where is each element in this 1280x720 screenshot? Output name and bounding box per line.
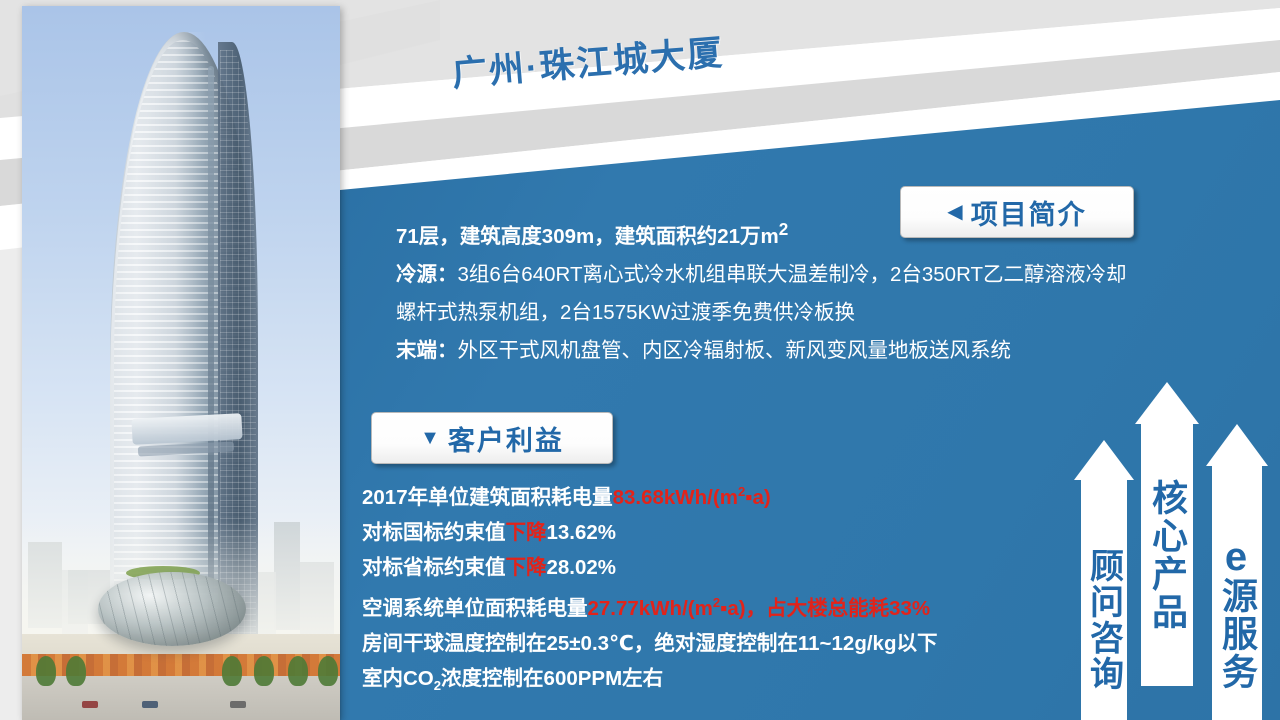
intro-line-2-label: 冷源 <box>396 263 437 286</box>
intro-line-4-text: 外区干式风机盘管、内区冷辐射板、新风变风量地板送风系统 <box>458 339 1012 362</box>
benefit-row-3-keyword: 下降 <box>506 556 547 579</box>
intro-line-1-text: 71层，建筑高度309m，建筑面积约21万m <box>396 225 779 248</box>
pillar-e-energy-service-label: 源服务 <box>1211 577 1263 691</box>
benefit-row-1-label: 2017年单位建筑面积耗电量 <box>362 486 613 509</box>
photo-tree <box>318 656 338 686</box>
benefit-row-6-text-b: 浓度控制在600PPM左右 <box>441 667 663 690</box>
benefit-row-4-value-b: ▪a)，占大楼总能耗33% <box>720 597 930 620</box>
intro-line-4-separator: ： <box>437 339 458 362</box>
photo-tree <box>66 656 86 686</box>
intro-line-1: 71层，建筑高度309m，建筑面积约21万m2 <box>396 211 1276 256</box>
intro-line-2-text: 3组6台640RT离心式冷水机组串联大温差制冷，2台350RT乙二醇溶液冷却 <box>458 263 1127 286</box>
benefit-row-1-value-b: ▪a) <box>745 486 771 509</box>
benefit-row-3-value: 28.02% <box>547 556 617 579</box>
customer-benefit-text: 2017年单位建筑面积耗电量83.68kWh/(m2▪a) 对标国标约束值下降1… <box>362 474 1102 703</box>
benefit-row-4: 空调系统单位面积耗电量27.77kWh/(m2▪a)，占大楼总能耗33% <box>362 585 1102 626</box>
intro-line-3: 螺杆式热泵机组，2台1575KW过渡季免费供冷板换 <box>396 294 1276 332</box>
badge-customer-benefit-label: 客户利益 <box>448 419 564 458</box>
benefit-row-4-value-a: 27.77kWh/(m <box>588 597 713 620</box>
benefit-row-4-label: 空调系统单位面积耗电量 <box>362 597 588 620</box>
pillar-consulting[interactable]: 顾问咨询 <box>1074 440 1134 720</box>
badge-project-intro[interactable]: ◀ 项目简介 <box>900 186 1134 238</box>
slide-root: 广州·珠江城大厦 ◀ 项目简介 71层，建筑高度309m，建筑面积约21万m2 … <box>0 0 1280 720</box>
benefit-row-2-value: 13.62% <box>547 521 617 544</box>
arrow-up-icon <box>1074 440 1134 480</box>
left-triangle-icon: ◀ <box>947 202 964 222</box>
benefit-row-1-value-a: 83.68kWh/(m <box>613 486 738 509</box>
arrow-up-icon <box>1206 424 1268 466</box>
intro-line-2: 冷源：3组6台640RT离心式冷水机组串联大温差制冷，2台350RT乙二醇溶液冷… <box>396 256 1276 294</box>
benefit-row-5-text: 房间干球温度控制在25±0.3℃，绝对湿度控制在11~12g/kg以下 <box>362 632 937 655</box>
benefit-row-5: 房间干球温度控制在25±0.3℃，绝对湿度控制在11~12g/kg以下 <box>362 626 1102 661</box>
benefit-row-1: 2017年单位建筑面积耗电量83.68kWh/(m2▪a) <box>362 474 1102 515</box>
pillar-consulting-label: 顾问咨询 <box>1081 480 1127 720</box>
benefit-row-3-label: 对标省标约束值 <box>362 556 506 579</box>
benefit-row-2-label: 对标国标约束值 <box>362 521 506 544</box>
photo-tree <box>254 656 274 686</box>
benefit-row-2-keyword: 下降 <box>506 521 547 544</box>
photo-car <box>82 701 98 708</box>
down-triangle-icon: ▼ <box>420 428 442 448</box>
badge-project-intro-label: 项目简介 <box>971 193 1087 232</box>
building-photo <box>22 6 340 720</box>
pillar-core-product-label: 核心产品 <box>1141 424 1193 686</box>
intro-line-4-label: 末端 <box>396 339 437 362</box>
arrow-up-icon <box>1135 382 1199 424</box>
intro-line-3-text: 螺杆式热泵机组，2台1575KW过渡季免费供冷板换 <box>396 301 855 324</box>
benefit-row-6-subscript: 2 <box>434 678 441 693</box>
pillar-e-energy-service-latin: e <box>1225 537 1249 577</box>
benefit-row-6-text-a: 室内CO <box>362 667 434 690</box>
intro-line-2-separator: ： <box>437 263 458 286</box>
benefit-row-2: 对标国标约束值下降13.62% <box>362 515 1102 550</box>
photo-car <box>142 701 158 708</box>
photo-entry-pod-ribs <box>98 572 246 646</box>
intro-line-1-superscript: 2 <box>779 220 789 239</box>
photo-tree <box>36 656 56 686</box>
benefit-row-6: 室内CO2浓度控制在600PPM左右 <box>362 661 1102 703</box>
intro-line-4: 末端：外区干式风机盘管、内区冷辐射板、新风变风量地板送风系统 <box>396 332 1276 370</box>
pillar-core-product[interactable]: 核心产品 <box>1135 382 1199 686</box>
pillar-e-energy-service-shaft: e源服务 <box>1212 466 1262 720</box>
project-intro-text: 71层，建筑高度309m，建筑面积约21万m2 冷源：3组6台640RT离心式冷… <box>396 211 1276 370</box>
benefit-row-3: 对标省标约束值下降28.02% <box>362 550 1102 585</box>
photo-car <box>230 701 246 708</box>
photo-tree <box>288 656 308 686</box>
pillar-e-energy-service[interactable]: e源服务 <box>1206 424 1268 720</box>
photo-tree <box>222 656 242 686</box>
badge-customer-benefit[interactable]: ▼ 客户利益 <box>371 412 613 464</box>
